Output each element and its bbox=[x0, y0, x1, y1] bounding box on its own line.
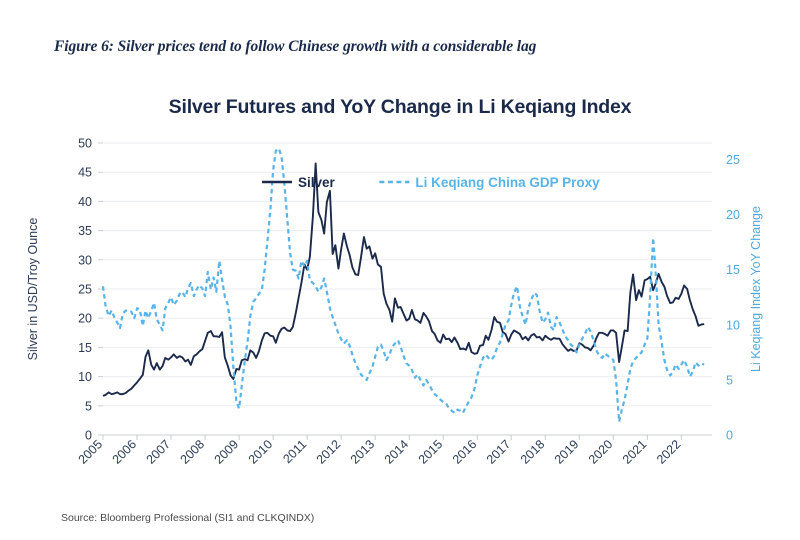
y2-axis-tick-label: 5 bbox=[726, 373, 733, 387]
x-axis-tick-label: 2010 bbox=[246, 437, 276, 467]
y2-axis-tick-label: 0 bbox=[726, 429, 733, 443]
y-axis-title: Silver in USD/Troy Ounce bbox=[26, 218, 40, 361]
legend-label-2: Li Keqiang China GDP Proxy bbox=[415, 175, 600, 190]
x-axis-tick-label: 2007 bbox=[144, 437, 174, 467]
y-axis-tick-label: 50 bbox=[78, 137, 92, 151]
x-axis-tick-label: 2009 bbox=[212, 437, 242, 467]
y-axis-tick-label: 15 bbox=[78, 341, 92, 355]
chart-title: Silver Futures and YoY Change in Li Keqi… bbox=[0, 96, 800, 119]
chart-svg: 0510152025303540455005101520252005200620… bbox=[0, 125, 800, 505]
x-axis-tick-label: 2008 bbox=[178, 437, 208, 467]
y-axis-tick-label: 10 bbox=[78, 370, 92, 384]
chart-legend: SilverLi Keqiang China GDP Proxy bbox=[262, 175, 600, 190]
x-axis-tick-label: 2021 bbox=[620, 437, 650, 467]
x-axis-tick-label: 2019 bbox=[552, 437, 582, 467]
y2-axis-title: Li Keqiang Index YoY Change bbox=[749, 206, 763, 372]
x-axis-tick-label: 2014 bbox=[382, 437, 412, 467]
y-axis-tick-label: 45 bbox=[78, 166, 92, 180]
y-axis-tick-label: 40 bbox=[78, 195, 92, 209]
y2-axis-tick-label: 15 bbox=[726, 263, 740, 277]
chart-plot-area: 0510152025303540455005101520252005200620… bbox=[0, 125, 800, 505]
y-axis-tick-label: 20 bbox=[78, 312, 92, 326]
x-axis-tick-label: 2012 bbox=[314, 437, 344, 467]
x-axis-tick-label: 2006 bbox=[110, 437, 140, 467]
x-axis: 2005200620072008200920102011201220132014… bbox=[76, 435, 712, 467]
y2-axis-tick-label: 25 bbox=[726, 153, 740, 167]
y2-axis-tick-label: 10 bbox=[726, 318, 740, 332]
gridlines: 05101520253035404550 bbox=[78, 137, 712, 443]
x-axis-tick-label: 2016 bbox=[450, 437, 480, 467]
figure-caption: Figure 6: Silver prices tend to follow C… bbox=[54, 38, 754, 56]
y-axis-tick-label: 35 bbox=[78, 224, 92, 238]
x-axis-tick-label: 2013 bbox=[348, 437, 378, 467]
y2-axis-tick-label: 20 bbox=[726, 208, 740, 222]
y-axis-tick-label: 5 bbox=[85, 399, 92, 413]
legend-label-1: Silver bbox=[298, 175, 336, 190]
x-axis-tick-label: 2005 bbox=[76, 437, 106, 467]
x-axis-tick-label: 2020 bbox=[586, 437, 616, 467]
x-axis-tick-label: 2011 bbox=[280, 437, 309, 466]
right-axis: 0510152025 bbox=[726, 153, 740, 442]
x-axis-tick-label: 2015 bbox=[416, 437, 446, 467]
x-axis-tick-label: 2018 bbox=[518, 437, 548, 467]
y-axis-tick-label: 30 bbox=[78, 253, 92, 267]
source-note: Source: Bloomberg Professional (SI1 and … bbox=[61, 512, 314, 524]
series-line-2 bbox=[103, 149, 704, 422]
x-axis-tick-label: 2022 bbox=[654, 437, 684, 467]
y-axis-tick-label: 25 bbox=[78, 283, 92, 297]
x-axis-tick-label: 2017 bbox=[484, 437, 514, 467]
